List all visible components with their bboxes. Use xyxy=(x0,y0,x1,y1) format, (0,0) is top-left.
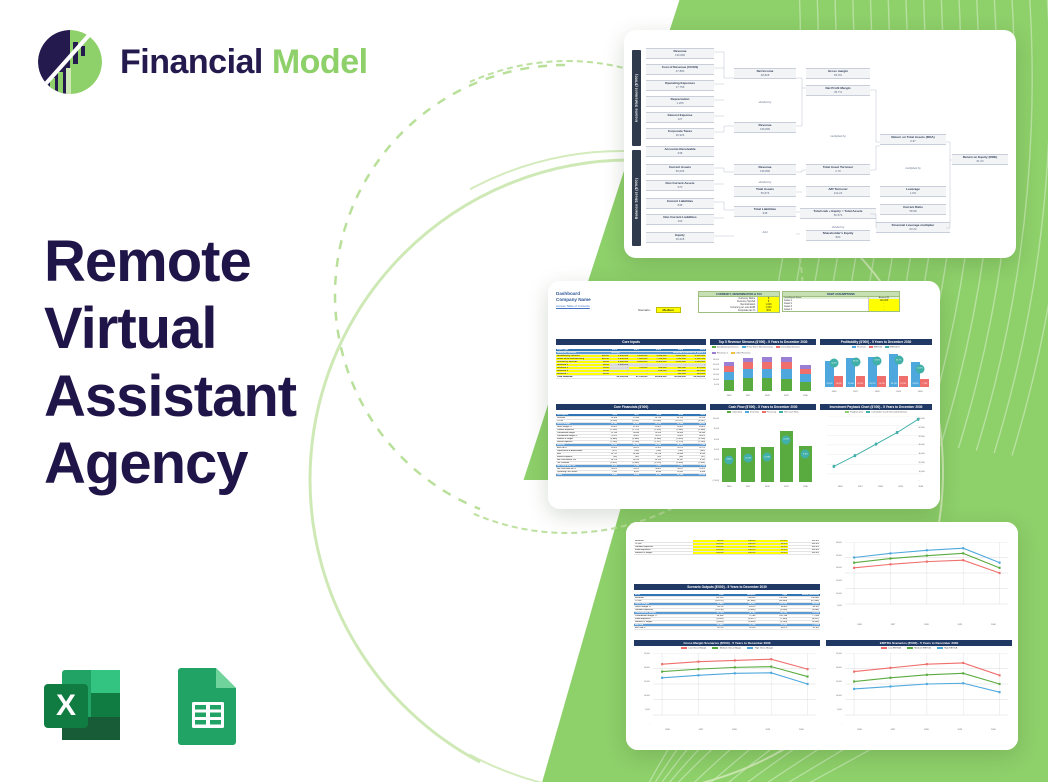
band-balance-sheet: Balance Sheet ($'000) xyxy=(632,150,641,246)
flow-box-value: 800 xyxy=(806,236,870,239)
chart-cash-flow: Cash Flow ($'000) - 5 Years to December … xyxy=(710,404,816,494)
data-bubble: 39.1% xyxy=(851,357,860,366)
panel-row: Corporate tax %30% xyxy=(699,309,779,312)
logo-wordmark: Financial Model xyxy=(120,45,368,79)
data-bubble: 10,785 xyxy=(763,453,772,462)
chart-legend: Operating Investing Financing Net Cash F… xyxy=(710,410,816,415)
flow-operator: divided by xyxy=(806,225,870,229)
stacked-bar xyxy=(743,358,753,391)
legend-item: Cumulative Cash Generated (Gross) xyxy=(866,411,907,414)
legend-item: Medium EBITDA xyxy=(907,647,931,649)
flow-box-value: 948 xyxy=(734,212,796,215)
legend-item: Payback year xyxy=(845,411,863,414)
flow-box: Current Ratio 58.98 xyxy=(880,204,946,215)
google-sheets-icon[interactable] xyxy=(164,662,250,748)
dashboard-title: Dashboard Company Name Access Table of C… xyxy=(556,291,591,310)
bar-segment xyxy=(762,378,772,390)
dashboard-company-name: Company Name xyxy=(556,297,591,302)
table-core-financials: Description 2026 2027 2028 2029 2030 Rev… xyxy=(556,414,706,477)
chart-plot: 10,0008,0006,0004,0002,000-(2,000) 8,666… xyxy=(710,416,816,488)
y-tick: 8,000 xyxy=(710,428,719,430)
flow-box-value: 136,800 xyxy=(734,128,796,131)
y-tick: 4,000 xyxy=(710,449,719,451)
logo-mark-icon xyxy=(34,26,106,98)
scenario-selector[interactable]: Scenario: Medium xyxy=(638,307,681,313)
flow-operator: divided by xyxy=(734,180,796,184)
chart-gross-margin-scenarios: Gross Margin Scenarios ($'000) - 5 Years… xyxy=(634,640,820,740)
chart-plot: 70,00060,00050,00040,00030,00020,00010,0… xyxy=(820,416,932,488)
bar-value-label: 30,720 xyxy=(891,383,897,385)
y-tick: 10,000 xyxy=(919,471,932,473)
bar-group: 27,06010,72939.1% xyxy=(846,358,864,387)
bar-group: 30,72010,76135.7% xyxy=(889,354,907,387)
table-row: EBITDA %42.2%52.0%60.1%52.0% xyxy=(634,627,820,630)
flow-operator: multiplied by xyxy=(806,134,870,138)
flow-box-value: 63.22 xyxy=(876,228,950,231)
table-body: Revenue123,130136,800150,480136,800COGS(… xyxy=(634,597,820,630)
y-axis-labels: 25,00020,00015,00010,0005,000- xyxy=(634,653,650,725)
y-tick: 30,000 xyxy=(710,359,719,361)
chart-plot: 30,00025,00020,00015,00010,0005,000- 202… xyxy=(826,540,1012,626)
y-tick: 20,000 xyxy=(826,667,842,669)
band-income-statement: Income Statement ($'000) xyxy=(632,50,641,146)
flow-box: Operating Expenses 17,758 xyxy=(646,80,714,91)
chart-legend: Bookkeeping Services Retail Store Manufa… xyxy=(710,345,816,355)
table-body: Revenue90.0%100.0%110.0%100.0%COGS105.0%… xyxy=(634,540,820,555)
y-axis-labels: 10,0008,0006,0004,0002,000-(2,000) xyxy=(710,418,719,482)
x-tick: 2030 xyxy=(803,395,808,397)
flow-operator: Add xyxy=(734,230,796,234)
legend-item: Financing xyxy=(762,411,777,414)
brand-logo[interactable]: Financial Model xyxy=(34,26,368,98)
page-title: Remote Virtual Assistant Agency xyxy=(44,228,444,497)
legend-item: Low EBITDA xyxy=(881,647,901,649)
flow-box-roe: Return on Equity (ROE) 61.03 xyxy=(952,154,1008,165)
bar-segment xyxy=(781,362,791,369)
x-tick: 2030 xyxy=(803,486,808,488)
stacked-bar xyxy=(724,362,734,391)
x-tick: 2026 xyxy=(727,486,732,488)
screenshot-card-dupont-flowchart[interactable]: Income Statement ($'000) Balance Sheet (… xyxy=(624,30,1016,258)
table-core-inputs: Input Type 2026 2027 2028 2029 2030 Reve… xyxy=(556,349,706,379)
scenario-analysis-sheet: Revenue90.0%100.0%110.0%100.0%COGS105.0%… xyxy=(626,522,1018,750)
y-tick: 25,000 xyxy=(826,555,842,557)
legend-item: Retail Store Manufacturing xyxy=(742,346,773,349)
chart-revenue-scenarios: 30,00025,00020,00015,00010,0005,000- 202… xyxy=(826,540,1012,632)
dupont-flowchart: Income Statement ($'000) Balance Sheet (… xyxy=(624,30,1016,258)
flow-box-value: 50,576 xyxy=(734,192,796,195)
y-tick: 20,000 xyxy=(826,567,842,569)
y-tick: 25,000 xyxy=(634,653,650,655)
y-tick: 15,000 xyxy=(710,374,719,376)
flow-box: Total Assets 50,576 xyxy=(734,186,796,197)
flow-box-value: 127 xyxy=(646,118,714,121)
x-tick: 2028 xyxy=(878,486,883,488)
y-axis-labels: 30,00025,00020,00015,00010,0005,000- xyxy=(826,542,842,620)
data-bubble: 37.0% xyxy=(873,356,882,365)
bar-segment xyxy=(800,374,810,381)
flow-box-value: 136,800 xyxy=(734,170,796,173)
x-tick: 2027 xyxy=(746,395,751,397)
scenario-value[interactable]: Medium xyxy=(656,307,681,313)
x-axis-labels: 20262027202820292030 xyxy=(843,729,1010,731)
y-tick: 10,000 xyxy=(710,418,719,420)
flow-box-value: 100 xyxy=(646,220,714,223)
flow-box-value: 47,880 xyxy=(646,70,714,73)
flow-box: Total Liab + Equity = Total Assets 50,57… xyxy=(800,208,876,219)
flow-box-value: 2.70 xyxy=(806,170,870,173)
y-tick: 10,000 xyxy=(710,379,719,381)
legend-item: EBITDA % xyxy=(885,346,900,349)
flow-box-value: 1,265 xyxy=(646,102,714,105)
chart-plot: 30,00025,00020,00015,00010,0005,000- 202… xyxy=(710,357,816,397)
chart-title: Profitability ($'000) - 5 Years to Decem… xyxy=(820,339,932,345)
legend-item: Bookkeeping Services xyxy=(712,346,739,349)
bar-segment xyxy=(781,379,791,391)
data-bubble: 42.0% xyxy=(830,359,839,368)
y-tick: 20,000 xyxy=(919,462,932,464)
y-tick: 25,000 xyxy=(826,653,842,655)
legend-item: High Gross Margin xyxy=(747,647,773,649)
table-row: Cash8,4009,0608,72030,18423,520 xyxy=(556,474,706,477)
panel-debt: DEBT ASSUMPTIONS Loan/Export Name Amount… xyxy=(782,291,900,312)
x-axis-labels: 20262027202820292030 xyxy=(823,391,931,393)
flow-box-value: 49,628 xyxy=(646,238,714,241)
bar-segment xyxy=(743,369,753,378)
bar-value-label: 10,729 xyxy=(857,383,863,385)
financial-dashboard: Dashboard Company Name Access Table of C… xyxy=(548,281,940,509)
x-tick: 2026 xyxy=(665,729,669,731)
y-axis-labels: 70,00060,00050,00040,00030,00020,00010,0… xyxy=(919,418,932,482)
x-tick: 2026 xyxy=(857,729,861,731)
flow-box: Current Liabilities 848 xyxy=(646,198,714,209)
bar-operating xyxy=(741,447,754,482)
y-tick: - xyxy=(919,480,932,482)
x-tick: 2029 xyxy=(958,729,962,731)
legend-item: EBITDA xyxy=(869,346,882,349)
y-tick: 70,000 xyxy=(919,418,932,420)
flow-box: Current Assets 50,006 xyxy=(646,164,714,175)
chart-bars xyxy=(720,359,815,391)
table-scenario-outputs: KPIs Low Medium High Active (Medium) Rev… xyxy=(634,594,820,630)
flow-box: Net Income 48,828 xyxy=(734,68,796,79)
bar-group: 23,5207,76032.7% xyxy=(911,362,929,387)
legend-item: Other Revenue xyxy=(731,352,751,355)
chart-title: Top 5 Revenue Streams ($'000) - 5 Years … xyxy=(710,339,816,345)
chart-profitability: Profitability ($'000) - 5 Years to Decem… xyxy=(820,339,932,399)
y-tick: 5,000 xyxy=(634,709,650,711)
chart-plot: 25,00020,00015,00010,0005,000- 202620272… xyxy=(634,651,820,731)
legend-item: Revenue 4 xyxy=(712,352,728,355)
chart-legend: Revenue EBITDA EBITDA % xyxy=(820,345,932,350)
bar-group: 10,761 xyxy=(780,431,793,482)
x-tick: 2030 xyxy=(918,391,923,393)
scenario-label: Scenario: xyxy=(638,308,651,312)
flow-box-value: 136,800 xyxy=(646,54,714,57)
y-tick: - xyxy=(826,723,842,725)
panel-currency: CURRENCY, DENOMINATION & TAX Currency Na… xyxy=(698,291,780,313)
flow-box: Financial Leverage multiplier 63.22 xyxy=(876,222,950,233)
chart-title: Cash Flow ($'000) - 5 Years to December … xyxy=(710,404,816,410)
x-tick: 2030 xyxy=(991,729,995,731)
flow-box: Depreciation 1,265 xyxy=(646,96,714,107)
x-tick: 2026 xyxy=(832,391,837,393)
flow-box: Non Current Assets 570 xyxy=(646,180,714,191)
flow-box: Corporate Taxes 20,926 xyxy=(646,128,714,139)
bar-ebitda: 10,785 xyxy=(877,376,886,387)
y-tick: 5,000 xyxy=(826,605,842,607)
bar-group: 8,707 xyxy=(799,446,812,482)
stacked-bar xyxy=(781,357,791,390)
legend-item: Operating xyxy=(727,411,742,414)
y-tick: 10,000 xyxy=(634,695,650,697)
flow-box-value: 65.0% xyxy=(806,74,870,77)
x-axis-labels: 20262027202820292030 xyxy=(830,486,931,488)
bar-group: 28,72010,78537.0% xyxy=(868,357,886,387)
y-tick: - xyxy=(710,470,719,472)
y-tick: 25,000 xyxy=(710,364,719,366)
bar-value-label: 7,760 xyxy=(922,383,927,385)
x-tick: 2030 xyxy=(918,486,923,488)
flow-box-value: 61.03 xyxy=(952,160,1008,163)
x-tick: 2028 xyxy=(765,486,770,488)
x-tick: 2028 xyxy=(765,395,770,397)
y-tick: 20,000 xyxy=(710,369,719,371)
data-bubble: 32.7% xyxy=(916,364,925,373)
chart-legend: Payback year Cumulative Cash Generated (… xyxy=(820,410,932,415)
chart-bars: 24,30010,20942.0%27,06010,72939.1%28,720… xyxy=(823,353,931,387)
x-tick: 2026 xyxy=(857,624,861,626)
section-scenario-outputs: Scenario Outputs ($'000) - 5 Years to De… xyxy=(634,584,820,590)
x-tick: 2030 xyxy=(991,624,995,626)
y-tick: 2,000 xyxy=(710,459,719,461)
line-series xyxy=(653,653,817,723)
headline-line-2: Virtual xyxy=(44,295,444,362)
flow-operator: multiplied by xyxy=(880,166,946,170)
flow-box-value: 50,006 xyxy=(646,170,714,173)
data-bubble: 10,729 xyxy=(744,454,753,463)
bar-value-label: 10,761 xyxy=(900,383,906,385)
x-tick: 2028 xyxy=(875,391,880,393)
legend-item: Consulting Services xyxy=(776,346,800,349)
stacked-bar xyxy=(762,357,772,391)
svg-text:X: X xyxy=(56,689,76,722)
flow-box-value: 848 xyxy=(646,204,714,207)
x-tick: 2029 xyxy=(784,486,789,488)
section-core-financials: Core Financials ($'000) xyxy=(556,404,706,410)
bar-value-label: 23,520 xyxy=(913,383,919,385)
dashboard-title-text: Dashboard xyxy=(556,291,580,296)
data-bubble: 35.7% xyxy=(894,356,903,365)
table-body: Revenue24,30027,06028,72030,72023,520COG… xyxy=(556,417,706,477)
flow-box: Gross margin 65.0% xyxy=(806,68,870,79)
flow-box: Equity 49,628 xyxy=(646,232,714,243)
bar-ebitda: 7,760 xyxy=(920,379,929,387)
x-tick: 2029 xyxy=(896,391,901,393)
x-tick: 2029 xyxy=(784,395,789,397)
flow-box: Non Current Liabilities 100 xyxy=(646,214,714,225)
x-tick: 2027 xyxy=(858,486,863,488)
bar-value-label: 27,060 xyxy=(848,383,854,385)
y-axis-labels: 25,00020,00015,00010,0005,000- xyxy=(826,653,842,725)
table-total-row: Total Revenue 22,500,000 27,542,000 28,6… xyxy=(556,376,706,379)
section-core-inputs: Core Inputs xyxy=(556,339,706,345)
bar-segment xyxy=(724,380,734,391)
flow-box: Revenue 136,800 xyxy=(734,122,796,133)
legend-item: Net Cash Flow xyxy=(779,411,798,414)
bar-value-label: 28,720 xyxy=(870,383,876,385)
chart-plot: 24,30010,20942.0%27,06010,72939.1%28,720… xyxy=(820,351,932,393)
headline-line-1: Remote xyxy=(44,228,444,295)
bar-value-label: 10,209 xyxy=(836,383,842,385)
flow-box: Total Asset Turnover 2.70 xyxy=(806,164,870,175)
flow-box-value: 144.24 xyxy=(806,192,870,195)
y-tick: 10,000 xyxy=(826,695,842,697)
flow-box-value: 948 xyxy=(646,152,714,155)
line-series xyxy=(845,653,1009,723)
flow-box-value: 20,926 xyxy=(646,134,714,137)
x-axis-labels: 20262027202820292030 xyxy=(651,729,818,731)
app-icons: X xyxy=(40,662,250,748)
headline-line-4: Agency xyxy=(44,430,444,497)
bar-ebitda: 10,729 xyxy=(856,376,865,387)
flow-box: Revenue 136,800 xyxy=(734,164,796,175)
y-tick: - xyxy=(826,618,842,620)
legend-item: High EBITDA xyxy=(937,647,958,649)
flow-box-value: 570 xyxy=(646,186,714,189)
chart-bars: 8,66610,72910,78510,7618,707 xyxy=(720,418,815,482)
flow-box: Total Liabilities 948 xyxy=(734,206,796,217)
x-axis-labels: 20262027202820292030 xyxy=(720,395,815,397)
bar-group: 10,785 xyxy=(761,447,774,482)
y-tick: (2,000) xyxy=(710,480,719,482)
y-tick: 15,000 xyxy=(826,681,842,683)
bar-value-label: 24,300 xyxy=(827,383,833,385)
bar-group: 10,729 xyxy=(741,447,754,482)
flow-box: Shareholder's Equity 800 xyxy=(806,230,870,241)
bar-group: 8,666 xyxy=(722,448,735,482)
y-tick: 50,000 xyxy=(919,436,932,438)
x-tick: 2026 xyxy=(838,486,843,488)
flow-box: Accounts Receivable 948 xyxy=(646,146,714,157)
bar-operating xyxy=(722,448,735,482)
flow-box: Cost of Revenue (COGS) 47,880 xyxy=(646,64,714,75)
bar-segment xyxy=(762,362,772,369)
y-tick: - xyxy=(710,389,719,391)
flow-box-value: 48,828 xyxy=(734,74,796,77)
bar-segment xyxy=(781,369,791,379)
x-tick: 2029 xyxy=(958,624,962,626)
screenshot-card-scenarios[interactable]: Revenue90.0%100.0%110.0%100.0%COGS105.0%… xyxy=(626,522,1018,750)
slide-canvas: Financial Model Remote Virtual Assistant… xyxy=(0,0,1048,782)
bar-segment xyxy=(743,378,753,390)
table-of-contents-link[interactable]: Access Table of Contents xyxy=(556,304,590,308)
data-bubble: 8,666 xyxy=(725,455,734,464)
bar-segment xyxy=(800,382,810,391)
excel-icon[interactable]: X xyxy=(40,662,126,748)
flow-box: Leverage 1.9% xyxy=(880,186,946,197)
y-tick: 20,000 xyxy=(634,667,650,669)
bar-ebitda: 10,761 xyxy=(899,376,908,387)
headline-line-3: Assistant xyxy=(44,363,444,430)
bar-group: 24,30010,20942.0% xyxy=(825,361,843,387)
legend-item: Medium Gross Margin xyxy=(712,647,741,649)
x-tick: 2027 xyxy=(746,486,751,488)
legend-item: Low Gross Margin xyxy=(681,647,706,649)
y-tick: 60,000 xyxy=(919,427,932,429)
chart-investment-payback: Investment Payback Chart ($'000) - 5 Yea… xyxy=(820,404,932,494)
y-tick: 40,000 xyxy=(919,444,932,446)
x-tick: 2026 xyxy=(727,395,732,397)
bar-segment xyxy=(724,372,734,380)
y-tick: 6,000 xyxy=(710,439,719,441)
y-tick: 15,000 xyxy=(826,580,842,582)
x-tick: 2027 xyxy=(891,624,895,626)
logo-word-financial: Financial xyxy=(120,43,263,81)
flow-box: Revenue 136,800 xyxy=(646,48,714,59)
x-tick: 2028 xyxy=(924,624,928,626)
y-axis-labels: 30,00025,00020,00015,00010,0005,000- xyxy=(710,359,719,391)
y-tick: - xyxy=(634,723,650,725)
y-tick: 5,000 xyxy=(826,709,842,711)
line-series xyxy=(827,416,923,478)
screenshot-card-dashboard[interactable]: Dashboard Company Name Access Table of C… xyxy=(548,281,940,509)
chart-title: Investment Payback Chart ($'000) - 5 Yea… xyxy=(820,404,932,410)
x-tick: 2029 xyxy=(898,486,903,488)
chart-ebitda-scenarios: EBITDA Scenarios ($'000) - 5 Years to De… xyxy=(826,640,1012,740)
x-tick: 2029 xyxy=(766,729,770,731)
x-axis-labels: 20262027202820292030 xyxy=(720,486,815,488)
x-tick: 2027 xyxy=(891,729,895,731)
logo-word-model: Model xyxy=(272,43,368,81)
x-tick: 2027 xyxy=(853,391,858,393)
x-tick: 2028 xyxy=(924,729,928,731)
flow-box: A/R Turnover 144.24 xyxy=(806,186,870,197)
x-axis-labels: 20262027202820292030 xyxy=(843,624,1010,626)
y-tick: 30,000 xyxy=(919,453,932,455)
x-tick: 2028 xyxy=(732,729,736,731)
chart-top5-revenue: Top 5 Revenue Streams ($'000) - 5 Years … xyxy=(710,339,816,399)
line-series xyxy=(845,542,1009,618)
bar-ebitda: 10,209 xyxy=(834,376,843,387)
data-bubble: 10,761 xyxy=(782,435,791,444)
flow-box: Interest Expense 127 xyxy=(646,112,714,123)
chart-plot: 25,00020,00015,00010,0005,000- 202620272… xyxy=(826,651,1012,731)
flow-box-value: 58.98 xyxy=(880,210,946,213)
table-row: Salaries & Wages105.0%100.0%95.0%100.0% xyxy=(634,552,820,555)
stacked-bar xyxy=(800,365,810,390)
flow-box: Net Profit Margin 35.7% xyxy=(806,85,870,96)
y-tick: 30,000 xyxy=(826,542,842,544)
flow-box-value: 50,576 xyxy=(800,214,876,217)
table-scenario-assumptions: Revenue90.0%100.0%110.0%100.0%COGS105.0%… xyxy=(634,540,820,555)
flow-box-value: 35.7% xyxy=(806,91,870,94)
bar-value-label: 10,785 xyxy=(879,383,885,385)
y-tick: 15,000 xyxy=(634,681,650,683)
data-bubble: 8,707 xyxy=(801,450,810,459)
y-tick: 5,000 xyxy=(710,384,719,386)
x-tick: 2030 xyxy=(799,729,803,731)
legend-item: Revenue xyxy=(852,346,866,349)
flow-box: Return on Total Assets (ROA) 0.97 xyxy=(880,134,946,145)
y-tick: 10,000 xyxy=(826,593,842,595)
flow-box-value: 1.9% xyxy=(880,192,946,195)
legend-item: Investing xyxy=(745,411,759,414)
panel-row: Asset 4- xyxy=(783,308,899,311)
flow-box-value: 0.97 xyxy=(880,140,946,143)
flow-operator: divided by xyxy=(734,100,796,104)
bar-segment xyxy=(762,369,772,379)
